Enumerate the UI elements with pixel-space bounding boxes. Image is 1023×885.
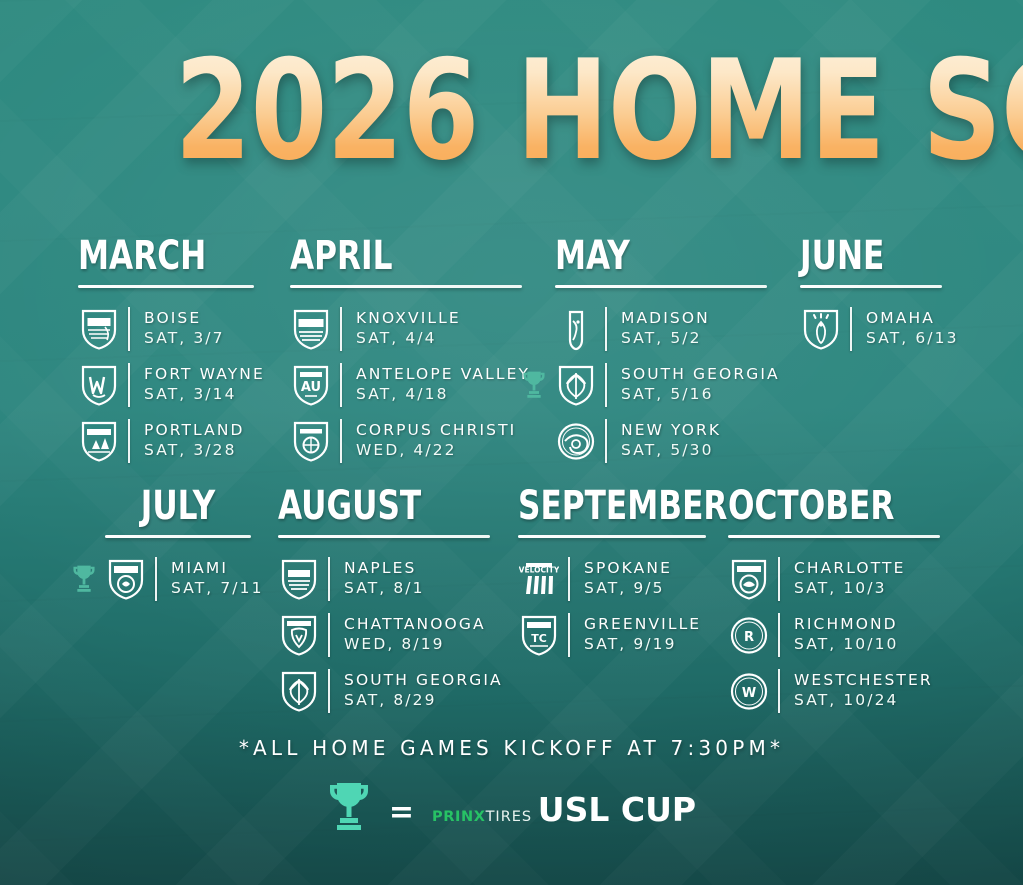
row-separator xyxy=(128,419,130,463)
trophy-icon-cup-match xyxy=(521,370,547,400)
game-info: CORPUS CHRISTIWED, 4/22 xyxy=(356,421,522,461)
opponent-name: WESTCHESTER xyxy=(794,671,940,691)
opponent-name: CHARLOTTE xyxy=(794,559,940,579)
row-separator xyxy=(328,669,330,713)
opponent-name: GREENVILLE xyxy=(584,615,706,635)
opponent-name: NAPLES xyxy=(344,559,490,579)
game-row[interactable]: SOUTH GEORGIASAT, 8/29 xyxy=(278,665,490,717)
game-row[interactable]: RRICHMONDSAT, 10/10 xyxy=(728,609,940,661)
game-date: SAT, 9/5 xyxy=(584,579,706,599)
month-heading: AUGUST xyxy=(278,486,443,526)
game-info: BOISESAT, 3/7 xyxy=(144,309,254,349)
antelope-valley-crest: AU xyxy=(290,362,332,408)
game-list: VELOCITYSPOKANESAT, 9/5TCGREENVILLESAT, … xyxy=(518,553,706,661)
game-row[interactable]: CHARLOTTESAT, 10/3 xyxy=(728,553,940,605)
month-heading: APRIL xyxy=(290,236,471,276)
game-date: SAT, 4/4 xyxy=(356,329,522,349)
month-divider xyxy=(78,285,254,288)
chattanooga-crest xyxy=(278,612,320,658)
game-row[interactable]: WWESTCHESTERSAT, 10/24 xyxy=(728,665,940,717)
game-row[interactable]: SOUTH GEORGIASAT, 5/16 xyxy=(555,359,767,411)
month-block-june: JUNEOMAHASAT, 6/13 xyxy=(800,236,942,359)
row-separator xyxy=(155,557,157,601)
opponent-name: FORT WAYNE xyxy=(144,365,254,385)
game-date: SAT, 3/7 xyxy=(144,329,254,349)
opponent-name: PORTLAND xyxy=(144,421,254,441)
game-info: RICHMONDSAT, 10/10 xyxy=(794,615,940,655)
game-date: SAT, 10/10 xyxy=(794,635,940,655)
row-separator xyxy=(850,307,852,351)
row-separator xyxy=(328,557,330,601)
trophy-icon-legend xyxy=(327,780,371,839)
game-row[interactable]: NEW YORKSAT, 5/30 xyxy=(555,415,767,467)
opponent-name: MIAMI xyxy=(171,559,251,579)
game-info: SPOKANESAT, 9/5 xyxy=(584,559,706,599)
game-row[interactable]: MADISONSAT, 5/2 xyxy=(555,303,767,355)
svg-text:R: R xyxy=(744,630,754,645)
month-block-march: MARCHBOISESAT, 3/7FORT WAYNESAT, 3/14POR… xyxy=(78,236,254,471)
game-info: OMAHASAT, 6/13 xyxy=(866,309,942,349)
opponent-name: KNOXVILLE xyxy=(356,309,522,329)
game-row[interactable]: BOISESAT, 3/7 xyxy=(78,303,254,355)
game-date: SAT, 10/3 xyxy=(794,579,940,599)
row-separator xyxy=(605,307,607,351)
cup-legend: = PRINXTIRES USL CUP xyxy=(0,780,1023,839)
south-georgia-crest xyxy=(278,668,320,714)
row-separator xyxy=(128,307,130,351)
row-separator xyxy=(568,557,570,601)
game-list: MIAMISAT, 7/11 xyxy=(105,553,251,605)
game-row[interactable]: VELOCITYSPOKANESAT, 9/5 xyxy=(518,553,706,605)
game-date: SAT, 4/18 xyxy=(356,385,522,405)
game-date: SAT, 8/1 xyxy=(344,579,490,599)
game-row[interactable]: TCGREENVILLESAT, 9/19 xyxy=(518,609,706,661)
game-info: NAPLESSAT, 8/1 xyxy=(344,559,490,599)
game-list: KNOXVILLESAT, 4/4AUANTELOPE VALLEYSAT, 4… xyxy=(290,303,522,467)
month-block-april: APRILKNOXVILLESAT, 4/4AUANTELOPE VALLEYS… xyxy=(290,236,522,471)
knoxville-crest xyxy=(290,306,332,352)
game-row[interactable]: NAPLESSAT, 8/1 xyxy=(278,553,490,605)
sponsor-word: TIRES xyxy=(486,809,533,825)
game-info: SOUTH GEORGIASAT, 5/16 xyxy=(621,365,767,405)
game-info: PORTLANDSAT, 3/28 xyxy=(144,421,254,461)
game-info: KNOXVILLESAT, 4/4 xyxy=(356,309,522,349)
month-divider xyxy=(555,285,767,288)
month-heading: MARCH xyxy=(78,236,215,276)
opponent-name: CORPUS CHRISTI xyxy=(356,421,522,441)
corpus-christi-crest xyxy=(290,418,332,464)
month-heading: JUNE xyxy=(800,236,911,276)
row-separator xyxy=(568,613,570,657)
game-info: CHATTANOOGAWED, 8/19 xyxy=(344,615,490,655)
game-list: BOISESAT, 3/7FORT WAYNESAT, 3/14PORTLAND… xyxy=(78,303,254,467)
opponent-name: ANTELOPE VALLEY xyxy=(356,365,522,385)
game-row[interactable]: FORT WAYNESAT, 3/14 xyxy=(78,359,254,411)
game-list: MADISONSAT, 5/2SOUTH GEORGIASAT, 5/16NEW… xyxy=(555,303,767,467)
month-block-september: SEPTEMBERVELOCITYSPOKANESAT, 9/5TCGREENV… xyxy=(518,486,706,665)
fort-wayne-crest xyxy=(78,362,120,408)
opponent-name: CHATTANOOGA xyxy=(344,615,490,635)
row-separator xyxy=(605,363,607,407)
page-title: 2026 HOME SCHEDULE xyxy=(175,42,1023,180)
omaha-crest xyxy=(800,306,842,352)
svg-text:VELOCITY: VELOCITY xyxy=(519,565,559,574)
sponsor-row: PRINXTIRES xyxy=(432,809,538,825)
opponent-name: RICHMOND xyxy=(794,615,940,635)
row-separator xyxy=(778,557,780,601)
row-separator xyxy=(605,419,607,463)
game-info: WESTCHESTERSAT, 10/24 xyxy=(794,671,940,711)
opponent-name: SOUTH GEORGIA xyxy=(621,365,767,385)
month-divider xyxy=(728,535,940,538)
month-heading: JULY xyxy=(121,486,235,526)
month-divider xyxy=(105,535,251,538)
equals-sign: = xyxy=(389,798,414,828)
game-info: FORT WAYNESAT, 3/14 xyxy=(144,365,254,405)
month-divider xyxy=(518,535,706,538)
game-date: SAT, 3/28 xyxy=(144,441,254,461)
game-date: WED, 8/19 xyxy=(344,635,490,655)
game-row[interactable]: KNOXVILLESAT, 4/4 xyxy=(290,303,522,355)
portland-crest xyxy=(78,418,120,464)
game-date: SAT, 3/14 xyxy=(144,385,254,405)
row-separator xyxy=(778,613,780,657)
month-divider xyxy=(290,285,522,288)
game-date: SAT, 8/29 xyxy=(344,691,490,711)
opponent-name: OMAHA xyxy=(866,309,942,329)
charlotte-crest xyxy=(728,556,770,602)
row-separator xyxy=(778,669,780,713)
game-date: SAT, 5/30 xyxy=(621,441,767,461)
game-list: OMAHASAT, 6/13 xyxy=(800,303,942,355)
opponent-name: NEW YORK xyxy=(621,421,767,441)
month-block-october: OCTOBERCHARLOTTESAT, 10/3RRICHMONDSAT, 1… xyxy=(728,486,940,721)
opponent-name: BOISE xyxy=(144,309,254,329)
game-info: GREENVILLESAT, 9/19 xyxy=(584,615,706,655)
month-block-august: AUGUSTNAPLESSAT, 8/1CHATTANOOGAWED, 8/19… xyxy=(278,486,490,721)
month-divider xyxy=(278,535,490,538)
new-york-crest xyxy=(555,418,597,464)
svg-text:TC: TC xyxy=(531,632,547,645)
game-row[interactable]: PORTLANDSAT, 3/28 xyxy=(78,415,254,467)
south-georgia-crest xyxy=(555,362,597,408)
schedule-poster: 2026 HOME SCHEDULE MARCHBOISESAT, 3/7FOR… xyxy=(0,0,1023,885)
miami-crest xyxy=(105,556,147,602)
trophy-icon-cup-match xyxy=(71,564,97,594)
game-list: NAPLESSAT, 8/1CHATTANOOGAWED, 8/19SOUTH … xyxy=(278,553,490,717)
opponent-name: MADISON xyxy=(621,309,767,329)
row-separator xyxy=(340,307,342,351)
usl-cup-wordmark: USL CUP xyxy=(538,790,696,829)
boise-crest xyxy=(78,306,120,352)
game-date: SAT, 5/2 xyxy=(621,329,767,349)
sponsor-brand: PRINX xyxy=(432,809,486,825)
row-separator xyxy=(128,363,130,407)
richmond-crest: R xyxy=(728,612,770,658)
game-info: MADISONSAT, 5/2 xyxy=(621,309,767,349)
usl-cup-lockup: PRINXTIRES USL CUP xyxy=(432,793,696,826)
game-row[interactable]: OMAHASAT, 6/13 xyxy=(800,303,942,355)
row-separator xyxy=(340,363,342,407)
game-date: WED, 4/22 xyxy=(356,441,522,461)
game-date: SAT, 10/24 xyxy=(794,691,940,711)
madison-crest xyxy=(555,306,597,352)
spokane-crest: VELOCITY xyxy=(518,556,560,602)
game-row[interactable]: CORPUS CHRISTIWED, 4/22 xyxy=(290,415,522,467)
game-row[interactable]: CHATTANOOGAWED, 8/19 xyxy=(278,609,490,661)
game-date: SAT, 6/13 xyxy=(866,329,942,349)
naples-crest xyxy=(278,556,320,602)
game-info: CHARLOTTESAT, 10/3 xyxy=(794,559,940,599)
game-info: MIAMISAT, 7/11 xyxy=(171,559,251,599)
month-heading: SEPTEMBER xyxy=(518,486,665,526)
row-separator xyxy=(340,419,342,463)
game-row[interactable]: AUANTELOPE VALLEYSAT, 4/18 xyxy=(290,359,522,411)
game-date: SAT, 9/19 xyxy=(584,635,706,655)
title-container: 2026 HOME SCHEDULE xyxy=(0,42,1023,180)
game-date: SAT, 5/16 xyxy=(621,385,767,405)
opponent-name: SPOKANE xyxy=(584,559,706,579)
game-info: NEW YORKSAT, 5/30 xyxy=(621,421,767,461)
kickoff-note: *ALL HOME GAMES KICKOFF AT 7:30PM* xyxy=(0,736,1023,760)
svg-text:W: W xyxy=(742,686,756,701)
svg-text:AU: AU xyxy=(301,380,321,395)
game-info: SOUTH GEORGIASAT, 8/29 xyxy=(344,671,490,711)
month-block-july: JULYMIAMISAT, 7/11 xyxy=(105,486,251,609)
game-list: CHARLOTTESAT, 10/3RRICHMONDSAT, 10/10WWE… xyxy=(728,553,940,717)
opponent-name: SOUTH GEORGIA xyxy=(344,671,490,691)
month-heading: MAY xyxy=(555,236,720,276)
game-info: ANTELOPE VALLEYSAT, 4/18 xyxy=(356,365,522,405)
month-divider xyxy=(800,285,942,288)
game-date: SAT, 7/11 xyxy=(171,579,251,599)
month-block-may: MAYMADISONSAT, 5/2SOUTH GEORGIASAT, 5/16… xyxy=(555,236,767,471)
game-row[interactable]: MIAMISAT, 7/11 xyxy=(105,553,251,605)
greenville-crest: TC xyxy=(518,612,560,658)
row-separator xyxy=(328,613,330,657)
month-heading: OCTOBER xyxy=(728,486,893,526)
westchester-crest: W xyxy=(728,668,770,714)
